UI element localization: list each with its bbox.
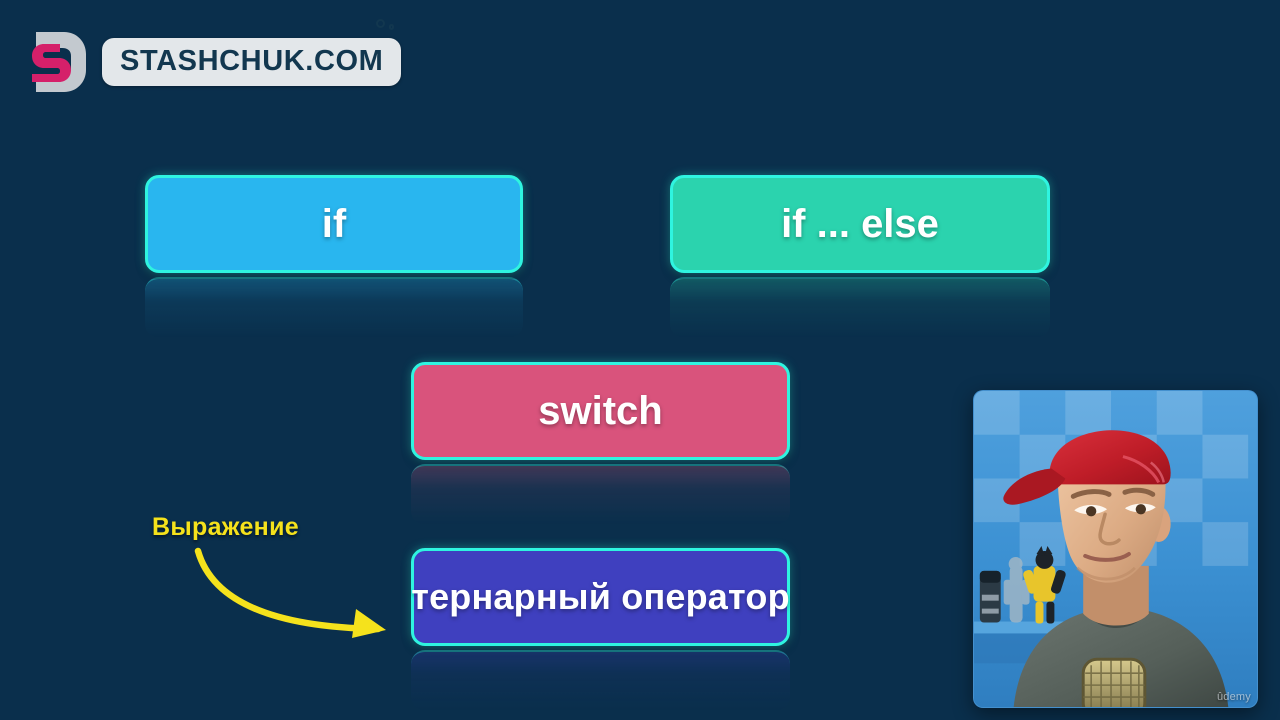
bubble-small-icon (389, 24, 395, 30)
concept-button-if-else-reflection (670, 277, 1050, 338)
concept-button-switch-label: switch (538, 391, 662, 431)
concept-button-if-else-surface[interactable]: if ... else (670, 175, 1050, 273)
concept-button-switch-reflection (411, 464, 790, 525)
slide-canvas: STASHCHUK.COM if if ... else switch терн… (0, 0, 1280, 720)
concept-button-if-label: if (322, 204, 346, 244)
concept-button-ternary[interactable]: тернарный оператор (411, 548, 790, 646)
concept-button-ternary-label: тернарный оператор (411, 579, 790, 615)
bubble-large-icon (376, 19, 385, 28)
presenter-microphone (1083, 659, 1145, 707)
concept-button-switch[interactable]: switch (411, 362, 790, 460)
concept-button-if-else[interactable]: if ... else (670, 175, 1050, 273)
concept-button-if-surface[interactable]: if (145, 175, 523, 273)
brand-badge: STASHCHUK.COM (102, 38, 401, 86)
concept-button-if[interactable]: if (145, 175, 523, 273)
brand-badge-text: STASHCHUK.COM (120, 47, 383, 76)
brand-lockup: STASHCHUK.COM (30, 30, 401, 94)
annotation-label: Выражение (152, 513, 299, 542)
concept-button-ternary-surface[interactable]: тернарный оператор (411, 548, 790, 646)
stashchuk-s-logo-icon (30, 30, 88, 94)
concept-button-if-else-label: if ... else (781, 204, 939, 244)
concept-button-switch-surface[interactable]: switch (411, 362, 790, 460)
concept-button-ternary-reflection (411, 650, 790, 711)
udemy-watermark: ûdemy (1217, 691, 1251, 703)
presenter-webcam-overlay[interactable]: ûdemy (973, 390, 1258, 708)
curved-arrow-icon (190, 545, 410, 640)
presenter-video-frame (974, 391, 1257, 707)
shelf-tumbler (980, 571, 1001, 623)
concept-button-if-reflection (145, 277, 523, 338)
